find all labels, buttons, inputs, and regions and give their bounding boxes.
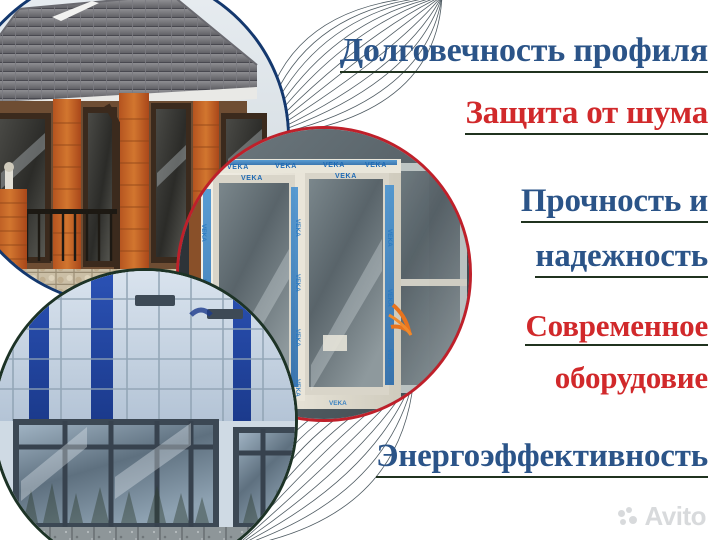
headline-modern-equipment-rule [525, 344, 708, 346]
headline-durability-text: Долговечность профиля [340, 32, 708, 69]
headline-modern-equipment-line2: оборудовие [555, 362, 708, 398]
facade-photo [0, 271, 295, 540]
headline-energy-efficiency: Энергоэффективность [376, 440, 708, 478]
headline-durability: Долговечность профиля [340, 34, 708, 73]
photo-circle-facade [0, 268, 298, 540]
headline-modern-equipment-line2-text: оборудовие [555, 360, 708, 395]
headline-noise-protection-rule [465, 133, 708, 135]
headline-durability-rule [340, 71, 708, 73]
svg-text:VEKA: VEKA [200, 224, 207, 242]
headline-strength-rule [521, 221, 708, 223]
headline-noise-protection: Защита от шума [465, 97, 708, 135]
headline-modern-equipment-line1: Современное [525, 310, 708, 346]
headline-strength-text: Прочность и [521, 183, 708, 219]
promo-banner: VEKA VEKA VEKA VEKA VEKA VEKA VEKA VEKA … [0, 0, 720, 540]
headline-reliability-text: надежность [535, 238, 708, 274]
headline-list: Долговечность профиля Защита от шума Про… [255, 0, 720, 540]
headline-energy-efficiency-text: Энергоэффективность [376, 438, 708, 474]
headline-reliability-rule [535, 276, 708, 278]
headline-strength: Прочность и [521, 185, 708, 223]
headline-modern-equipment-line1-text: Современное [525, 308, 708, 343]
headline-reliability: надежность [535, 240, 708, 278]
headline-noise-protection-text: Защита от шума [465, 95, 708, 131]
svg-text:VEKA: VEKA [227, 164, 249, 171]
headline-energy-efficiency-rule [376, 476, 708, 478]
facade-illustration [0, 271, 295, 540]
